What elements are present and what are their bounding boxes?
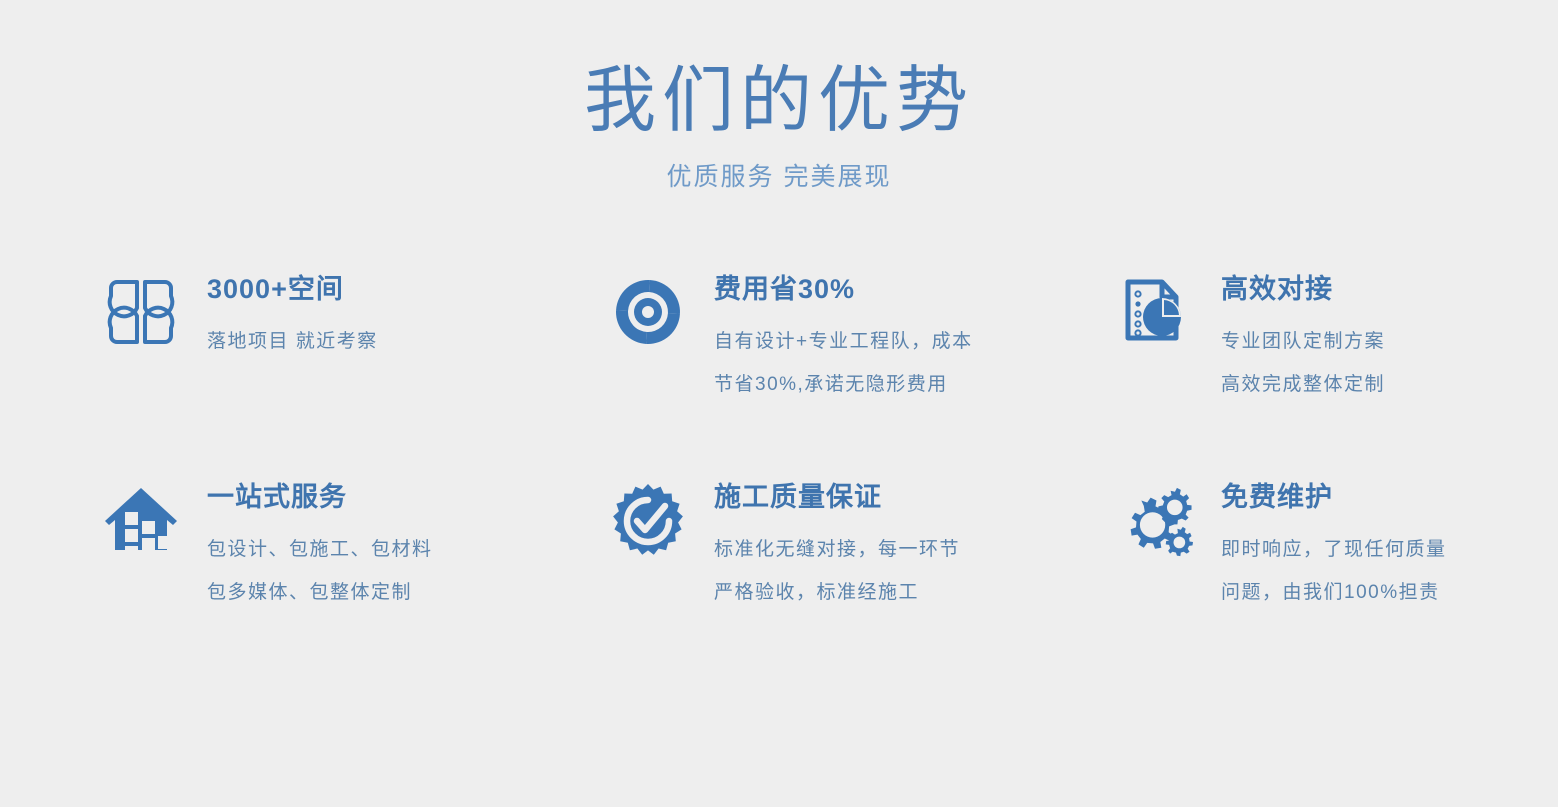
feature-text: 一站式服务 包设计、包施工、包材料 包多媒体、包整体定制 [207, 480, 610, 614]
house-icon [103, 480, 179, 566]
feature-title: 免费维护 [1221, 480, 1558, 514]
page-title: 我们的优势 [0, 58, 1558, 144]
section-header: 我们的优势 优质服务 完美展现 [0, 58, 1558, 194]
feature-title: 3000+空间 [207, 272, 610, 306]
features-grid: 3000+空间 落地项目 就近考察 费用省30% [0, 272, 1558, 688]
feature-title: 高效对接 [1221, 272, 1558, 306]
feature-title: 一站式服务 [207, 480, 610, 514]
feature-item: 3000+空间 落地项目 就近考察 [103, 272, 610, 480]
feature-text: 3000+空间 落地项目 就近考察 [207, 272, 610, 363]
feature-description-line: 专业团队定制方案 [1221, 320, 1558, 363]
feature-description-line: 高效完成整体定制 [1221, 363, 1558, 406]
feature-text: 费用省30% 自有设计+专业工程队，成本 节省30%,承诺无隐形费用 [714, 272, 1117, 406]
feature-item: 费用省30% 自有设计+专业工程队，成本 节省30%,承诺无隐形费用 [610, 272, 1117, 480]
feature-description-line: 即时响应，了现任何质量 [1221, 528, 1558, 571]
document-pie-chart-icon [1117, 272, 1193, 358]
feature-item: 高效对接 专业团队定制方案 高效完成整体定制 [1117, 272, 1558, 480]
feature-description-line: 包多媒体、包整体定制 [207, 571, 610, 614]
page-subtitle: 优质服务 完美展现 [0, 160, 1558, 194]
advantages-section: 我们的优势 优质服务 完美展现 3000+空间 落地项目 就近考察 [0, 0, 1558, 807]
feature-description-line: 严格验收，标准经施工 [714, 571, 1117, 614]
feature-description-line: 自有设计+专业工程队，成本 [714, 320, 1117, 363]
feature-description-line: 落地项目 就近考察 [207, 320, 610, 363]
feature-text: 免费维护 即时响应，了现任何质量 问题，由我们100%担责 [1221, 480, 1558, 614]
feature-item: 施工质量保证 标准化无缝对接，每一环节 严格验收，标准经施工 [610, 480, 1117, 688]
certified-badge-icon [610, 480, 686, 566]
feature-text: 高效对接 专业团队定制方案 高效完成整体定制 [1221, 272, 1558, 406]
feature-title: 费用省30% [714, 272, 1117, 306]
feature-description-line: 包设计、包施工、包材料 [207, 528, 610, 571]
four-petals-icon [103, 272, 179, 358]
feature-item: 免费维护 即时响应，了现任何质量 问题，由我们100%担责 [1117, 480, 1558, 688]
gears-icon [1117, 480, 1193, 566]
feature-description-line: 标准化无缝对接，每一环节 [714, 528, 1117, 571]
feature-description-line: 节省30%,承诺无隐形费用 [714, 363, 1117, 406]
feature-description-line: 问题，由我们100%担责 [1221, 571, 1558, 614]
feature-title: 施工质量保证 [714, 480, 1117, 514]
feature-item: 一站式服务 包设计、包施工、包材料 包多媒体、包整体定制 [103, 480, 610, 688]
target-icon [610, 272, 686, 358]
feature-text: 施工质量保证 标准化无缝对接，每一环节 严格验收，标准经施工 [714, 480, 1117, 614]
